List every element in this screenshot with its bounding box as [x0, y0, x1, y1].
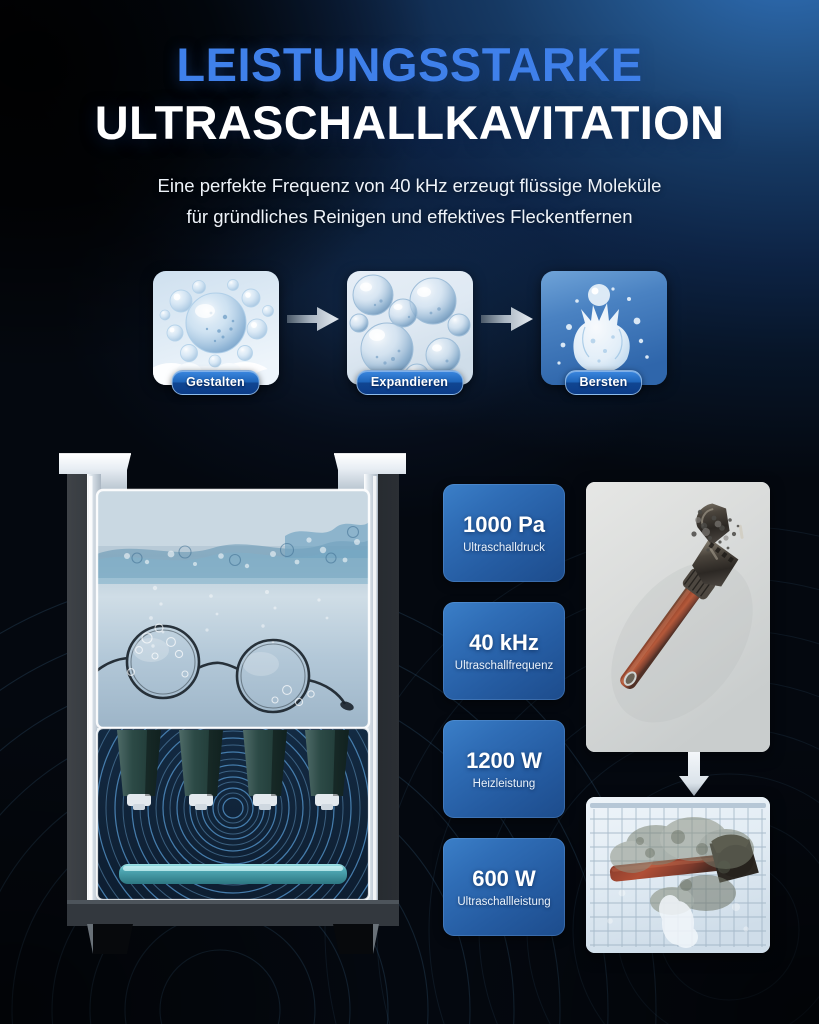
subtitle-block: Eine perfekte Frequenz von 40 kHz erzeug…: [0, 170, 819, 232]
process-step-burst: Bersten: [541, 271, 667, 385]
expanding-bubbles-icon: [347, 271, 473, 385]
cavitation-process-row: Gestalten: [0, 266, 819, 390]
ultrasonic-cleaner-cutaway: [35, 428, 430, 968]
spec-label: Heizleistung: [473, 777, 536, 791]
process-step-form-label: Gestalten: [171, 370, 260, 395]
process-step-burst-label: Bersten: [565, 370, 643, 395]
spec-label: Ultraschallleistung: [457, 895, 550, 909]
down-arrow-icon: [678, 752, 710, 796]
spec-label: Ultraschallfrequenz: [455, 659, 553, 673]
process-step-expand-label: Expandieren: [356, 370, 463, 395]
subtitle-line-2: für gründliches Reinigen und effektives …: [0, 201, 819, 232]
spec-label: Ultraschalldruck: [463, 541, 545, 555]
process-step-expand: Expandieren: [347, 271, 473, 385]
spec-card-frequency: 40 kHz Ultraschallfrequenz: [443, 602, 565, 700]
spec-value: 1000 Pa: [463, 512, 545, 538]
headline-line-2: ULTRASCHALLKAVITATION: [0, 95, 819, 151]
spec-card-heating-power: 1200 W Heizleistung: [443, 720, 565, 818]
infographic-root: LEISTUNGSSTARKE ULTRASCHALLKAVITATION Ei…: [0, 0, 819, 1024]
spec-card-ultrasonic-power: 600 W Ultraschallleistung: [443, 838, 565, 936]
spec-card-pressure: 1000 Pa Ultraschalldruck: [443, 484, 565, 582]
process-step-form: Gestalten: [153, 271, 279, 385]
right-arrow-icon: [287, 306, 339, 332]
bubble-cluster-icon: [153, 271, 279, 385]
spec-value: 1200 W: [466, 748, 542, 774]
spec-value: 600 W: [472, 866, 536, 892]
before-photo-rusty-wrench: [586, 482, 770, 752]
subtitle-line-1: Eine perfekte Frequenz von 40 kHz erzeug…: [0, 170, 819, 201]
bursting-bubble-icon: [541, 271, 667, 385]
headline-block: LEISTUNGSSTARKE ULTRASCHALLKAVITATION: [0, 38, 819, 151]
spec-card-list: 1000 Pa Ultraschalldruck 40 kHz Ultrasch…: [443, 484, 565, 956]
after-photo-wrench-in-basket: [586, 797, 770, 953]
right-arrow-icon-2: [481, 306, 533, 332]
spec-value: 40 kHz: [469, 630, 539, 656]
headline-line-1: LEISTUNGSSTARKE: [0, 38, 819, 92]
